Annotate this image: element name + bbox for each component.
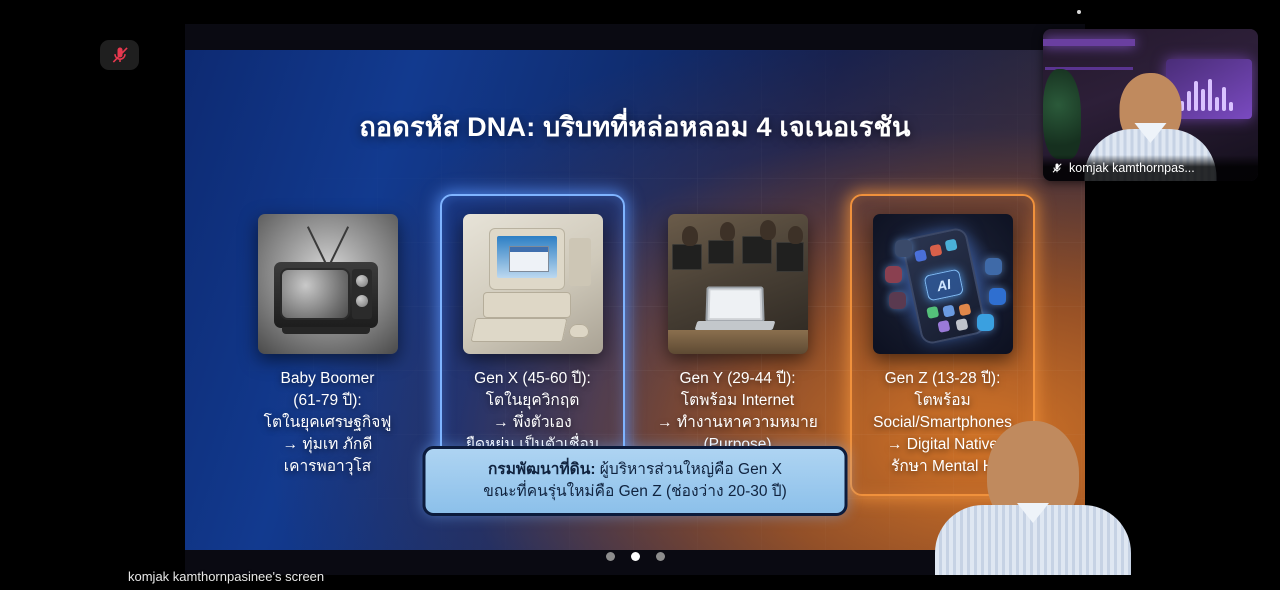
participant-name: komjak kamthornpas... [1069, 161, 1195, 175]
pagination-dot-3[interactable] [656, 552, 665, 561]
generation-description: Gen X (45-60 ปี): โตในยุควิกฤต → พึ่งตัว… [462, 368, 603, 456]
pagination-dot-1[interactable] [606, 552, 615, 561]
callout-line1-rest: ผู้บริหารส่วนใหญ่คือ Gen X [596, 461, 782, 478]
generations-row: Baby Boomer (61-79 ปี): โตในยุคเศรษฐกิจฟ… [225, 172, 1045, 492]
speaker-video-overlay[interactable] [932, 412, 1134, 575]
participant-video-tile[interactable]: komjak kamthornpas... [1043, 29, 1258, 181]
vintage-tv-image [258, 214, 398, 354]
summary-callout: กรมพัฒนาที่ดิน: ผู้บริหารส่วนใหญ่คือ Gen… [423, 446, 848, 516]
speaker-figure [932, 412, 1134, 575]
generation-description: Baby Boomer (61-79 ปี): โตในยุคเศรษฐกิจฟ… [260, 368, 396, 478]
callout-bold-lead: กรมพัฒนาที่ดิน: [488, 461, 596, 478]
meeting-window: ถอดรหัส DNA: บริบทที่หล่อหลอม 4 เจเนอเรช… [0, 0, 1280, 590]
callout-line-1: กรมพัฒนาที่ดิน: ผู้บริหารส่วนใหญ่คือ Gen… [442, 459, 829, 481]
generation-panel-gen-x: Gen X (45-60 ปี): โตในยุควิกฤต → พึ่งตัว… [430, 172, 635, 492]
generation-panel-gen-y: Gen Y (29-44 ปี): โตพร้อม Internet → ทำง… [635, 172, 840, 492]
screen-share-label: komjak kamthornpasinee's screen [128, 569, 324, 584]
pagination-dot-2[interactable] [631, 552, 640, 561]
slide-title: ถอดรหัส DNA: บริบทที่หล่อหลอม 4 เจเนอเรช… [185, 105, 1085, 148]
mute-status-button[interactable] [100, 40, 139, 70]
participant-name-bar: komjak kamthornpas... [1043, 155, 1258, 181]
smartphone-ai-apps-image: AI [873, 214, 1013, 354]
retro-desktop-computer-image [463, 214, 603, 354]
microphone-muted-icon [110, 45, 130, 65]
microphone-muted-icon [1051, 161, 1063, 175]
computer-lab-image [668, 214, 808, 354]
generation-panel-baby-boomer: Baby Boomer (61-79 ปี): โตในยุคเศรษฐกิจฟ… [225, 172, 430, 492]
status-indicator-dot [1077, 10, 1081, 14]
callout-line-2: ขณะที่คนรุ่นใหม่คือ Gen Z (ช่องว่าง 20-3… [442, 481, 829, 503]
